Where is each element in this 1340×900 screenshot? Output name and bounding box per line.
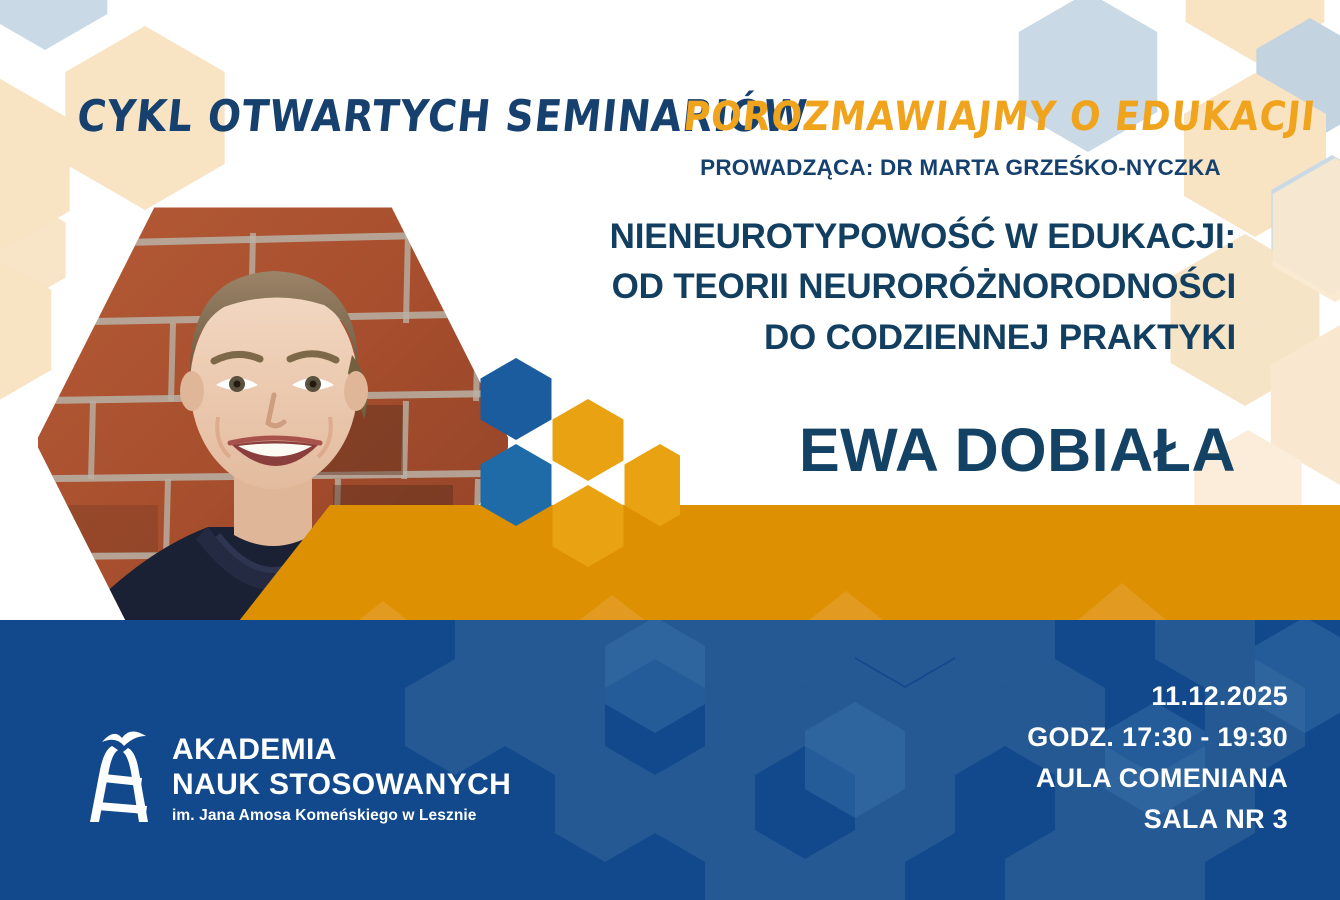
university-logo: AKADEMIA NAUK STOSOWANYCH im. Jana Amosa…: [84, 722, 511, 834]
series-name: POROZMAWIAJMY O EDUKACJI: [681, 94, 1318, 140]
logo-line-3: im. Jana Amosa Komeńskiego w Lesznie: [172, 807, 511, 825]
logo-text-block: AKADEMIA NAUK STOSOWANYCH im. Jana Amosa…: [172, 722, 511, 825]
logo-line-2: NAUK STOSOWANYCH: [172, 767, 511, 802]
lecture-title: NIENEUROTYPOWOŚĆ W EDUKACJI: OD TEORII N…: [430, 212, 1236, 363]
accent-hexagon-cluster: [470, 352, 680, 567]
title-line-1: NIENEUROTYPOWOŚĆ W EDUKACJI:: [430, 212, 1236, 262]
event-time: GODZ. 17:30 - 19:30: [1027, 717, 1288, 758]
event-venue: AULA COMENIANA: [1027, 758, 1288, 799]
ladder-a-bird-icon: [84, 722, 158, 834]
logo-line-1: AKADEMIA: [172, 732, 511, 767]
hex-orange-1: [553, 399, 624, 481]
hex-dark-blue: [481, 358, 552, 440]
hex-midleft-accent: [0, 195, 66, 305]
hex-mid-blue: [481, 444, 552, 526]
title-line-2: OD TEORII NEURORÓŻNORODNOŚCI: [430, 262, 1236, 312]
hex-orange-2: [553, 485, 624, 567]
event-room: SALA NR 3: [1027, 799, 1288, 840]
host-line: PROWADZĄCA: DR MARTA GRZEŚKO-NYCZKA: [687, 155, 1234, 181]
event-details: 11.12.2025 GODZ. 17:30 - 19:30 AULA COME…: [1027, 676, 1288, 840]
event-date: 11.12.2025: [1027, 676, 1288, 717]
hex-orange-3: [625, 444, 681, 526]
seminar-poster: CYKL OTWARTYCH SEMINARIÓW POROZMAWIAJMY …: [0, 0, 1340, 900]
